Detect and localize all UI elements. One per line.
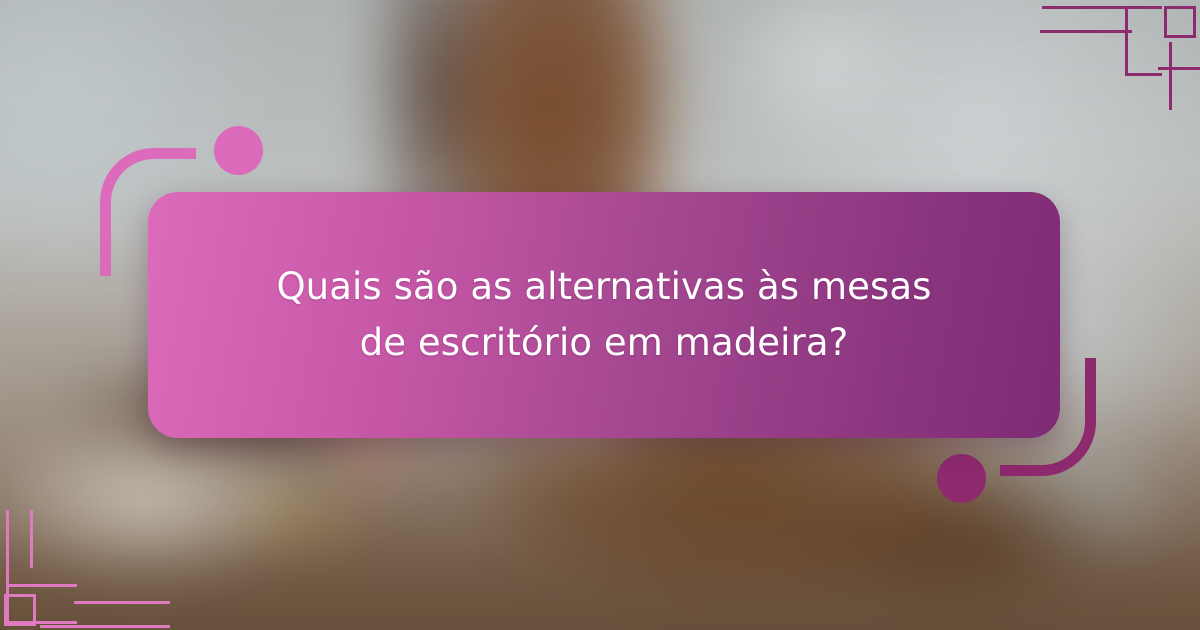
circuit-square-node [4,594,36,626]
circuit-square-node [1164,6,1196,38]
circuit-line-horizontal [1158,67,1200,70]
dot-top-left [214,126,263,175]
circuit-line-vertical [1169,42,1172,110]
circuit-top-right [1040,0,1200,110]
social-card-canvas: Quais são as alternativas às mesas de es… [0,0,1200,630]
question-title: Quais são as alternativas às mesas de es… [254,259,954,371]
circuit-line-horizontal [74,601,170,604]
circuit-line-vertical [30,510,33,568]
circuit-line-vertical [6,510,9,592]
circuit-line-horizontal [40,625,170,628]
question-card: Quais são as alternativas às mesas de es… [148,192,1060,438]
circuit-line-horizontal [1040,30,1132,33]
circuit-elbow [1125,6,1162,76]
dot-bottom-right [937,454,986,503]
circuit-bottom-left [0,510,170,630]
